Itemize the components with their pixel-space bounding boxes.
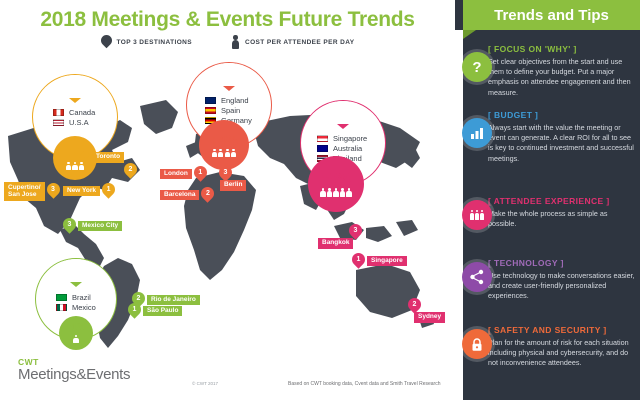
growth-value: +5% [321,171,351,186]
trends-tips-panel: Trends and Tips ? [ FOCUS ON 'WHY' ] Set… [455,0,640,400]
rank-marker: 3 [349,224,362,240]
panel-title: Trends and Tips [463,0,640,30]
tip-technology[interactable]: [ TECHNOLOGY ] Use technology to make co… [488,258,636,302]
people-icons [66,162,85,171]
city-london[interactable]: London 1 [160,166,207,182]
region-name: NORAM [33,75,117,99]
rank-marker: 1 [194,166,207,182]
city-name: Barcelona [160,190,199,201]
region-name: LATAM [36,259,116,283]
page-title: 2018 Meetings & Events Future Trends [0,8,455,32]
growth-bubble-emea: +4% [199,120,249,170]
map-pin-icon [101,35,112,49]
country-name: Singapore [333,134,367,143]
city-cupertino-san-jose[interactable]: Cupertino/San Jose 3 [4,182,60,201]
region-notch [70,282,82,287]
growth-bubble-apac: +5% [308,156,364,212]
tip-title: [ TECHNOLOGY ] [488,258,636,268]
country-row: Spain [205,106,271,115]
legend-label: TOP 3 DESTINATIONS [117,39,192,46]
city-name: Cupertino/San Jose [4,182,45,201]
person-icon [230,35,240,49]
city-new-york[interactable]: New York 1 [63,183,115,199]
city-bangkok-marker: 3 [349,224,362,240]
country-name: Brazil [72,293,91,302]
tip-title: [ FOCUS ON 'WHY' ] [488,44,636,54]
people-icons [73,335,79,344]
share-nodes-icon [462,262,492,292]
tip-attendee-experience[interactable]: [ ATTENDEE EXPERIENCE ] Make the whole p… [488,196,636,229]
copyright-text: © CWT 2017 [192,381,218,386]
city-toronto-marker: 2 [124,163,137,179]
tip-body: Use technology to make conversations eas… [488,271,636,302]
country-name: U.S.A [69,118,89,127]
city-berlin-marker: 3 [219,166,232,182]
city-name: London [160,169,192,180]
infographic-root: 2018 Meetings & Events Future Trends TOP… [0,0,640,400]
usa-flag [53,119,64,127]
city-name: Mexico City [78,221,122,232]
city-name: New York [63,186,100,197]
rank-marker: 3 [47,183,60,199]
rank-marker: 1 [102,183,115,199]
cwt-logo: CWT Meetings&Events [18,358,130,382]
region-name: APAC [301,101,385,125]
panel-notch [463,30,476,39]
region-noram[interactable]: NORAM Canada U.S.A +3% [32,74,118,160]
tip-focus-on-why[interactable]: ? [ FOCUS ON 'WHY' ] Set clear objective… [488,44,636,98]
england-flag [205,97,216,105]
rank-marker: 2 [124,163,137,179]
lock-icon [462,329,492,359]
growth-value: +4% [210,133,238,147]
country-name: Australia [333,144,362,153]
region-latam[interactable]: LATAM Brazil Mexico +1% [35,258,117,340]
country-row: U.S.A [53,118,117,127]
region-notch [69,98,81,103]
bar-chart-icon [462,118,492,148]
region-emea[interactable]: EMEA England Spain Germany [186,62,272,148]
country-row: Canada [53,108,117,117]
country-row: Singapore [317,134,385,143]
rank-marker: 3 [219,166,232,182]
tip-body: Always start with the value the meeting … [488,123,636,164]
tip-safety-and-security[interactable]: [ SAFETY AND SECURITY ] Plan for the amo… [488,325,636,369]
city-toronto[interactable]: Toronto [92,152,124,163]
tip-body: Make the whole process as simple as poss… [488,209,636,229]
tip-title: [ SAFETY AND SECURITY ] [488,325,636,335]
legend-item-destinations: TOP 3 DESTINATIONS [101,35,192,49]
people-icons [211,149,237,158]
region-name: EMEA [187,63,271,87]
rank-marker: 2 [201,187,214,203]
rank-marker: 1 [352,253,365,269]
region-notch [223,86,235,91]
tip-title: [ BUDGET ] [488,110,636,120]
people-group-icon [462,200,492,230]
tip-body: Plan for the amount of risk for each sit… [488,338,636,369]
brazil-flag [56,294,67,302]
country-row: Australia [317,144,385,153]
legend-label: COST PER ATTENDEE PER DAY [245,39,354,46]
country-name: Spain [221,106,240,115]
australia-flag [317,145,328,153]
city-singapore[interactable]: 1 Singapore [352,253,407,269]
country-list: England Spain Germany [187,87,271,125]
singapore-flag [317,135,328,143]
city-mexico-city[interactable]: 3 Mexico City [63,218,122,234]
mexico-flag [56,304,67,312]
city-sydney-label[interactable]: Sydney [414,312,445,323]
city-barcelona[interactable]: Barcelona 2 [160,187,214,203]
spain-flag [205,107,216,115]
canada-flag [53,109,64,117]
city-name: Sydney [414,312,445,323]
source-text: Based on CWT booking data, Cvent data an… [288,381,441,387]
region-apac[interactable]: APAC Singapore Australia Thailand [300,100,386,186]
legend: TOP 3 DESTINATIONS COST PER ATTENDEE PER… [0,35,455,49]
logo-meetings-events-text: Meetings&Events [18,367,130,383]
city-sao-paulo[interactable]: 1 São Paulo [128,303,182,319]
city-name: Toronto [92,152,124,163]
growth-bubble-latam: +1% [59,316,93,350]
rank-marker: 1 [128,303,141,319]
rank-marker: 3 [63,218,76,234]
country-row: Mexico [56,303,116,312]
region-notch [337,124,349,129]
tip-body: Set clear objectives from the start and … [488,57,636,98]
legend-item-cost: COST PER ATTENDEE PER DAY [230,35,354,49]
tip-budget[interactable]: [ BUDGET ] Always start with the value t… [488,110,636,164]
country-name: Mexico [72,303,96,312]
city-name: Singapore [367,256,407,267]
country-list: Brazil Mexico [36,283,116,312]
city-name: São Paulo [143,306,182,317]
growth-bubble-noram: +3% [53,136,97,180]
country-list: Canada U.S.A [33,99,117,127]
country-row: England [205,96,271,105]
tip-title: [ ATTENDEE EXPERIENCE ] [488,196,636,206]
question-mark-icon: ? [462,52,492,82]
map-area: 2018 Meetings & Events Future Trends TOP… [0,0,455,400]
growth-value: +3% [61,146,89,160]
country-name: England [221,96,249,105]
country-row: Brazil [56,293,116,302]
people-icons [320,188,352,197]
growth-value: +1% [66,323,86,333]
country-name: Canada [69,108,95,117]
